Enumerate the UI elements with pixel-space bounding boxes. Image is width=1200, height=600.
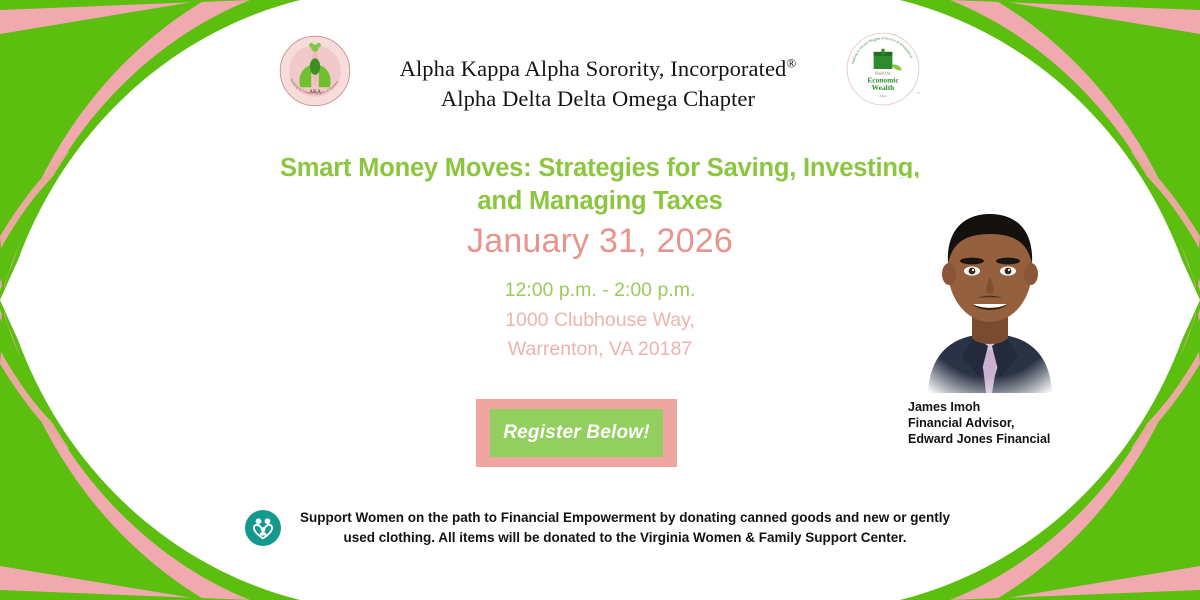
footer-donation-notice: Support Women on the path to Financial E… [0, 508, 1200, 547]
footer-text-line-2: used clothing. All items will be donated… [295, 528, 955, 548]
flyer-header: AKA Seeking to Greater Heights of Servic… [0, 34, 1200, 113]
build-our-economic-wealth-badge-icon: Build Our Economic Wealth AKA Seeking to… [844, 30, 922, 108]
svg-text:™: ™ [917, 92, 920, 96]
aka-sorority-seal-icon: AKA Seeking to Greater Heights of Servic… [278, 34, 352, 108]
svg-text:AKA: AKA [879, 94, 887, 98]
speaker-headshot [900, 178, 1080, 393]
speaker-info: James Imoh Financial Advisor, Edward Jon… [900, 399, 1080, 447]
footer-text: Support Women on the path to Financial E… [295, 508, 955, 547]
organization-name: Alpha Kappa Alpha Sorority, Incorporated… [378, 34, 818, 113]
speaker-block: James Imoh Financial Advisor, Edward Jon… [900, 178, 1080, 447]
registered-mark: ® [786, 56, 796, 71]
speaker-name: James Imoh [908, 399, 1080, 415]
organization-line1: Alpha Kappa Alpha Sorority, Incorporated [400, 56, 787, 81]
svg-text:Wealth: Wealth [872, 83, 895, 92]
footer-text-line-1: Support Women on the path to Financial E… [295, 508, 955, 528]
organization-line2: Alpha Delta Delta Omega Chapter [378, 84, 818, 114]
register-button-frame: Register Below! [476, 399, 677, 467]
family-support-icon [245, 510, 281, 546]
event-flyer: AKA Seeking to Greater Heights of Servic… [0, 0, 1200, 600]
register-button[interactable]: Register Below! [490, 409, 663, 457]
speaker-role: Financial Advisor, [908, 415, 1080, 431]
speaker-company: Edward Jones Financial [908, 431, 1080, 447]
